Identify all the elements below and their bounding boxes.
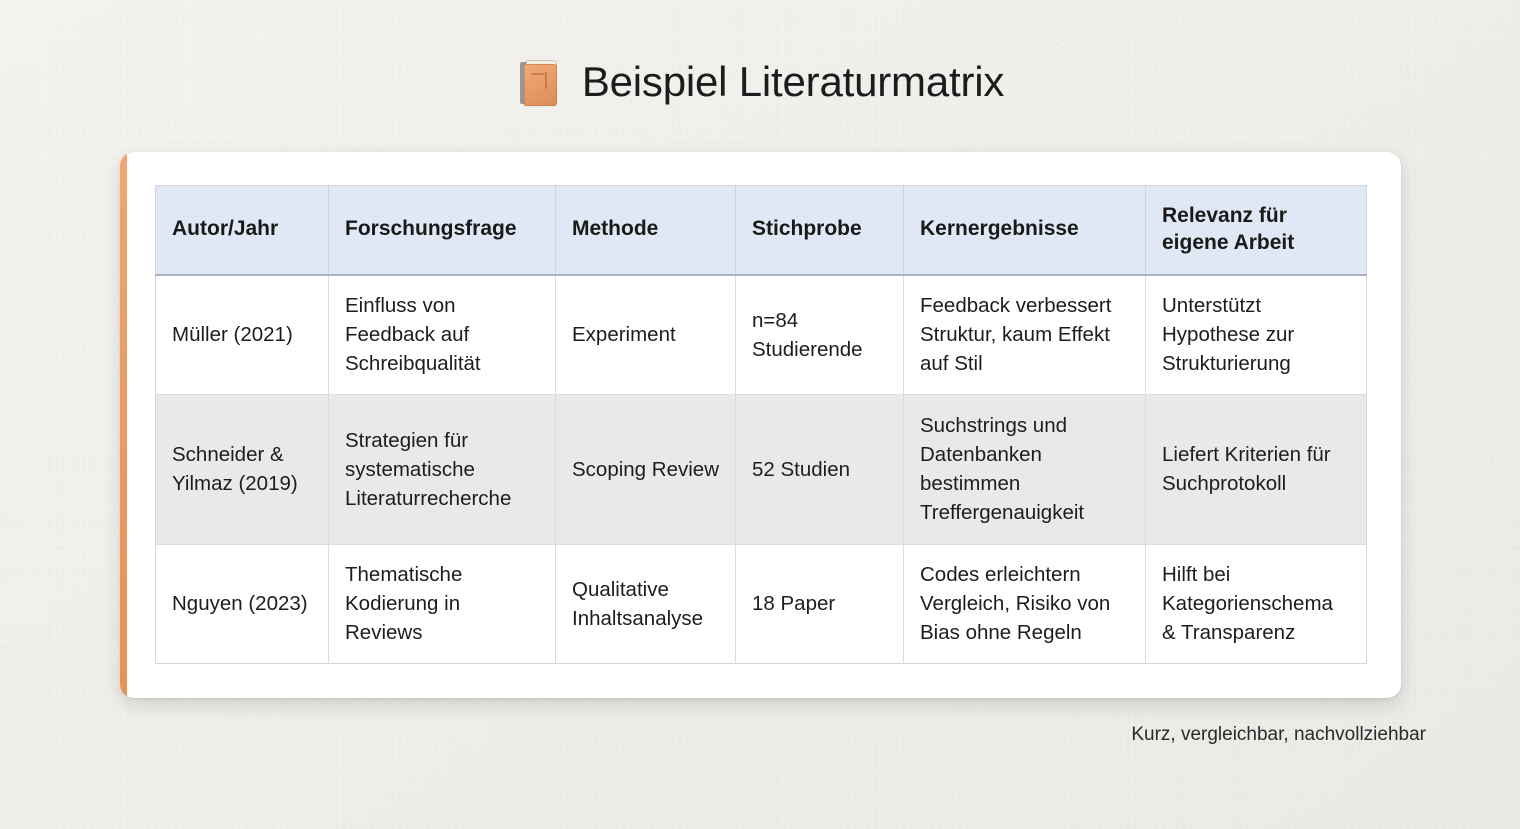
column-header-autor-jahr[interactable]: Autor/Jahr	[156, 186, 329, 275]
cell-methode: Scoping Review	[556, 394, 736, 544]
column-header-relevanz[interactable]: Relevanz für eigene Arbeit	[1146, 186, 1367, 275]
cell-methode: Qualitative Inhaltsanalyse	[556, 544, 736, 663]
cell-relevanz: Hilft bei Kategorienschema & Transparenz	[1146, 544, 1367, 663]
column-header-stichprobe[interactable]: Stichprobe	[736, 186, 904, 275]
literature-matrix-table-wrapper: Autor/Jahr Forschungsfrage Methode Stich…	[155, 185, 1366, 664]
cell-forschungsfrage: Strategien für systematische Literaturre…	[329, 394, 556, 544]
literature-matrix-card: Autor/Jahr Forschungsfrage Methode Stich…	[120, 152, 1401, 698]
orange-book-icon	[516, 56, 564, 108]
cell-kernergebnisse: Feedback verbessert Struktur, kaum Effek…	[904, 275, 1146, 395]
cell-forschungsfrage: Thematische Kodierung in Reviews	[329, 544, 556, 663]
page-title: Beispiel Literaturmatrix	[0, 56, 1520, 108]
table-row[interactable]: Müller (2021) Einfluss von Feedback auf …	[156, 275, 1367, 395]
cell-autor-jahr: Schneider & Yilmaz (2019)	[156, 394, 329, 544]
cell-stichprobe: 52 Studien	[736, 394, 904, 544]
cell-forschungsfrage: Einfluss von Feedback auf Schreibqualitä…	[329, 275, 556, 395]
cell-stichprobe: n=84 Studierende	[736, 275, 904, 395]
cell-kernergebnisse: Suchstrings und Datenbanken bestimmen Tr…	[904, 394, 1146, 544]
cell-methode: Experiment	[556, 275, 736, 395]
column-header-kernergebnisse[interactable]: Kernergebnisse	[904, 186, 1146, 275]
table-row[interactable]: Schneider & Yilmaz (2019) Strategien für…	[156, 394, 1367, 544]
column-header-methode[interactable]: Methode	[556, 186, 736, 275]
cell-relevanz: Liefert Kriterien für Suchprotokoll	[1146, 394, 1367, 544]
table-header-row: Autor/Jahr Forschungsfrage Methode Stich…	[156, 186, 1367, 275]
cell-kernergebnisse: Codes erleichtern Vergleich, Risiko von …	[904, 544, 1146, 663]
cell-autor-jahr: Müller (2021)	[156, 275, 329, 395]
table-row[interactable]: Nguyen (2023) Thematische Kodierung in R…	[156, 544, 1367, 663]
footer-caption: Kurz, vergleichbar, nachvollziehbar	[1131, 724, 1426, 746]
cell-relevanz: Unterstützt Hypothese zur Strukturierung	[1146, 275, 1367, 395]
cell-stichprobe: 18 Paper	[736, 544, 904, 663]
column-header-forschungsfrage[interactable]: Forschungsfrage	[329, 186, 556, 275]
cell-autor-jahr: Nguyen (2023)	[156, 544, 329, 663]
card-accent-bar	[120, 152, 127, 698]
page-title-text: Beispiel Literaturmatrix	[582, 58, 1004, 106]
literature-matrix-table: Autor/Jahr Forschungsfrage Methode Stich…	[155, 185, 1367, 664]
